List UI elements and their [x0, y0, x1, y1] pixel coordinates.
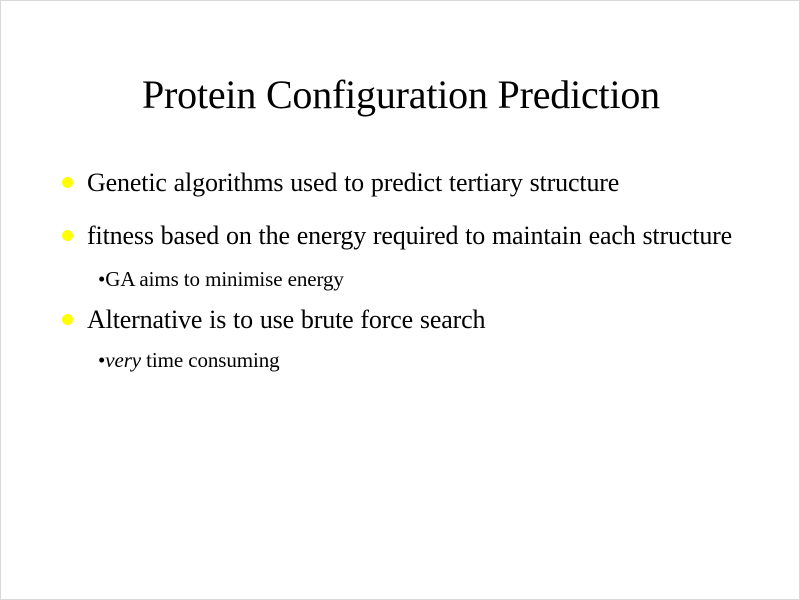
bullet-dot-icon [62, 177, 73, 188]
sub-bullet-item-2-label: time consuming [141, 348, 280, 372]
bullet-item-2: fitness based on the energy required to … [53, 219, 753, 252]
slide-canvas: Protein Configuration Prediction Genetic… [0, 0, 800, 600]
slide-body-list: Genetic algorithms used to predict terti… [53, 166, 753, 384]
sub-bullet-item-2-emphasis: very [105, 348, 141, 372]
bullet-item-1: Genetic algorithms used to predict terti… [53, 166, 753, 199]
sub-bullet-item-2-line: •very time consuming [98, 347, 753, 374]
sub-bullet-item-2: •very time consuming [53, 347, 753, 374]
slide-title: Protein Configuration Prediction [1, 71, 800, 119]
sub-bullet-item-1: •GA aims to minimise energy [53, 266, 753, 293]
bullet-item-3-label: Alternative is to use brute force search [87, 303, 753, 336]
sub-bullet-item-1-line: •GA aims to minimise energy [98, 266, 753, 293]
bullet-dot-icon [62, 314, 73, 325]
sub-bullet-item-1-label: GA aims to minimise energy [105, 267, 344, 291]
bullet-item-3: Alternative is to use brute force search [53, 303, 753, 336]
bullet-item-2-label: fitness based on the energy required to … [87, 219, 753, 252]
bullet-dot-icon [62, 230, 73, 241]
bullet-item-1-label: Genetic algorithms used to predict terti… [87, 166, 753, 199]
